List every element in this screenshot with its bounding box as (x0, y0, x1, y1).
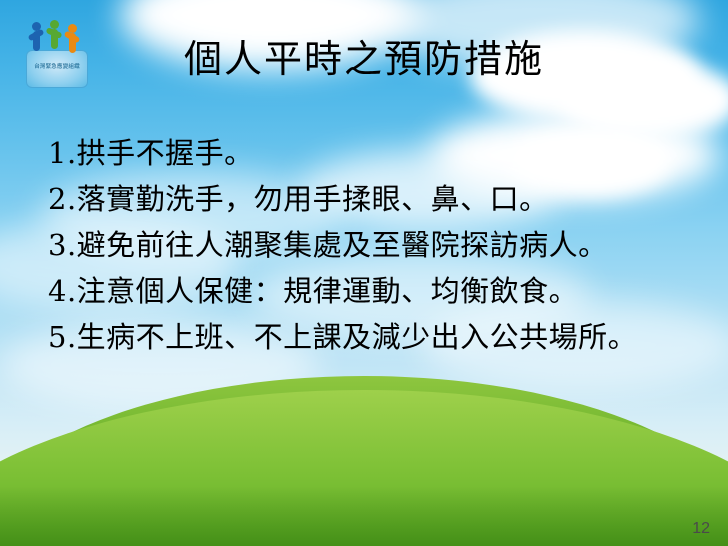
list-item: 3.避免前往人潮聚集處及至醫院探訪病人。 (48, 222, 708, 268)
list-item-text: 落實勤洗手，勿用手揉眼、鼻、口。 (77, 182, 549, 216)
list-item-number: 1. (48, 136, 77, 170)
list-item-number: 4. (48, 274, 77, 308)
list-item-text: 注意個人保健：規律運動、均衡飲食。 (77, 274, 579, 308)
list-item-text: 拱手不握手。 (77, 136, 254, 170)
list-item-text: 生病不上班、不上課及減少出入公共場所。 (77, 320, 638, 354)
list-item-number: 5. (48, 320, 77, 354)
page-title: 個人平時之預防措施 (0, 36, 728, 82)
list-item-text: 避免前往人潮聚集處及至醫院探訪病人。 (77, 228, 608, 262)
list-item-number: 3. (48, 228, 77, 262)
prevention-measures-list: 1.拱手不握手。 2.落實勤洗手，勿用手揉眼、鼻、口。 3.避免前往人潮聚集處及… (48, 130, 708, 360)
slide-canvas: 台灣緊急應變組織 個人平時之預防措施 1.拱手不握手。 2.落實勤洗手，勿用手揉… (0, 0, 728, 546)
list-item: 5.生病不上班、不上課及減少出入公共場所。 (48, 314, 708, 360)
list-item: 2.落實勤洗手，勿用手揉眼、鼻、口。 (48, 176, 708, 222)
list-item-number: 2. (48, 182, 77, 216)
list-item: 4.注意個人保健：規律運動、均衡飲食。 (48, 268, 708, 314)
list-item: 1.拱手不握手。 (48, 130, 708, 176)
page-number: 12 (692, 520, 710, 538)
hill-shadow (0, 486, 728, 546)
